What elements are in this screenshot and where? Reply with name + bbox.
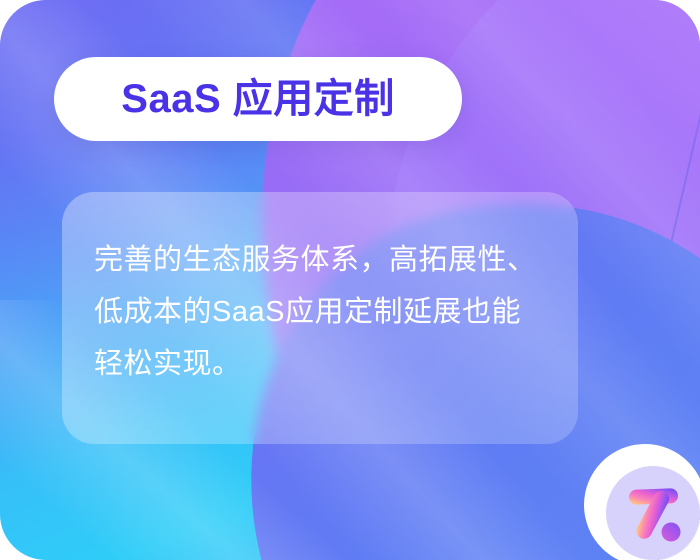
description-panel: 完善的生态服务体系，高拓展性、低成本的SaaS应用定制延展也能轻松实现。 [62, 192, 578, 444]
page-title: SaaS 应用定制 [121, 79, 394, 119]
description-text: 完善的生态服务体系，高拓展性、低成本的SaaS应用定制延展也能轻松实现。 [94, 234, 542, 390]
title-pill: SaaS 应用定制 [54, 57, 462, 141]
saas-promo-card: SaaS 应用定制 完善的生态服务体系，高拓展性、低成本的SaaS应用定制延展也… [0, 0, 700, 560]
seven-logo-icon [606, 466, 700, 560]
logo-badge[interactable] [606, 466, 700, 560]
